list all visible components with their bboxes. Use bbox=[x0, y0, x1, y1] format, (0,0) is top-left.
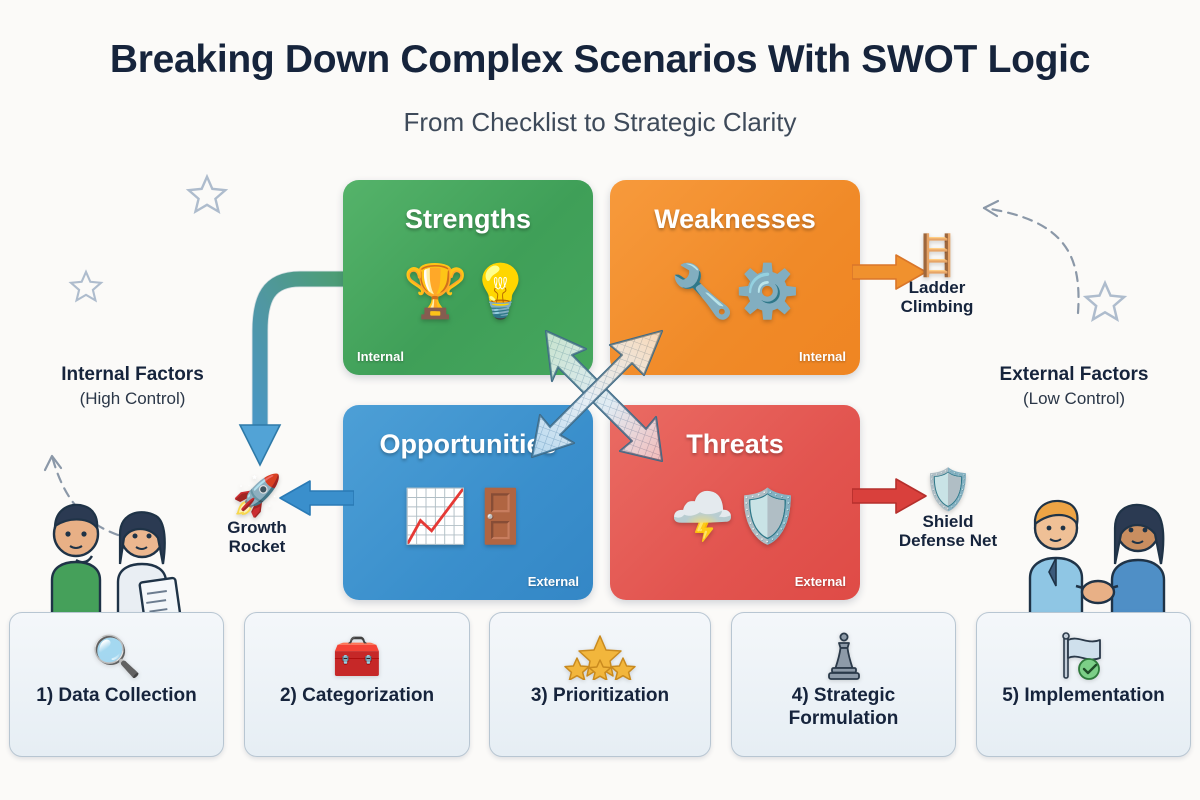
quadrant-title-weaknesses: Weaknesses bbox=[610, 204, 860, 235]
people-analyzing-illustration bbox=[30, 468, 190, 618]
toolbox-icon: 🧰 bbox=[332, 629, 382, 685]
rocket-icon: 🚀 bbox=[182, 476, 332, 516]
crossing-arrows-icon bbox=[528, 325, 678, 470]
star-outline-icon bbox=[185, 172, 229, 216]
internal-factors-sub: (High Control) bbox=[25, 389, 240, 409]
step-card-prioritization[interactable]: 3) Prioritization bbox=[489, 612, 711, 757]
quadrant-title-strengths: Strengths bbox=[343, 204, 593, 235]
callout-shield-line2: Defense Net bbox=[899, 531, 997, 550]
step-label-5: 5) Implementation bbox=[994, 685, 1173, 708]
strengths-to-rocket-arrow bbox=[238, 265, 358, 480]
storm-cloud-shield-icon: 🌩️🛡️ bbox=[610, 469, 860, 565]
callout-ladder-climbing: 🪜 Ladder Climbing bbox=[862, 236, 1012, 316]
step-label-4: 4) Strategic Formulation bbox=[732, 685, 955, 731]
infographic-canvas: Breaking Down Complex Scenarios With SWO… bbox=[0, 0, 1200, 800]
quadrant-scope-opportunities: External bbox=[528, 574, 579, 589]
external-factors-heading: External Factors bbox=[960, 364, 1188, 386]
flag-check-icon bbox=[1056, 629, 1112, 685]
process-steps-row: 🔍 1) Data Collection 🧰 2) Categorization… bbox=[0, 612, 1200, 760]
step-card-strategic-formulation[interactable]: 4) Strategic Formulation bbox=[731, 612, 956, 757]
star-outline-icon bbox=[68, 268, 104, 304]
callout-shield-defense: 🛡️ Shield Defense Net bbox=[873, 470, 1023, 550]
ladder-icon: 🪜 bbox=[862, 236, 1012, 276]
quadrant-scope-strengths: Internal bbox=[357, 349, 404, 364]
magnifying-glass-icon: 🔍 bbox=[92, 629, 142, 685]
chess-queen-icon bbox=[824, 629, 864, 685]
page-title: Breaking Down Complex Scenarios With SWO… bbox=[0, 38, 1200, 82]
growth-chart-door-icon: 📈🚪 bbox=[343, 469, 593, 565]
step-card-implementation[interactable]: 5) Implementation bbox=[976, 612, 1191, 757]
step-label-1: 1) Data Collection bbox=[28, 685, 204, 708]
stars-rating-icon bbox=[563, 629, 637, 685]
people-handshake-illustration bbox=[1012, 468, 1182, 618]
internal-factors-label: Internal Factors (High Control) bbox=[25, 364, 240, 409]
step-card-categorization[interactable]: 🧰 2) Categorization bbox=[244, 612, 470, 757]
quadrant-scope-weaknesses: Internal bbox=[799, 349, 846, 364]
external-factors-label: External Factors (Low Control) bbox=[960, 364, 1188, 409]
external-factors-sub: (Low Control) bbox=[960, 389, 1188, 409]
step-label-3: 3) Prioritization bbox=[523, 685, 677, 708]
step-label-2: 2) Categorization bbox=[272, 685, 442, 708]
callout-growth-rocket: 🚀 Growth Rocket bbox=[182, 476, 332, 556]
callout-ladder-line2: Climbing bbox=[901, 297, 974, 316]
shield-icon: 🛡️ bbox=[873, 470, 1023, 510]
internal-factors-heading: Internal Factors bbox=[25, 364, 240, 386]
callout-growth-rocket-line2: Rocket bbox=[229, 537, 286, 556]
callout-ladder-line1: Ladder bbox=[909, 278, 966, 297]
callout-shield-line1: Shield bbox=[922, 512, 973, 531]
step-card-data-collection[interactable]: 🔍 1) Data Collection bbox=[9, 612, 224, 757]
quadrant-scope-threats: External bbox=[795, 574, 846, 589]
callout-growth-rocket-line1: Growth bbox=[227, 518, 287, 537]
page-subtitle: From Checklist to Strategic Clarity bbox=[0, 107, 1200, 138]
